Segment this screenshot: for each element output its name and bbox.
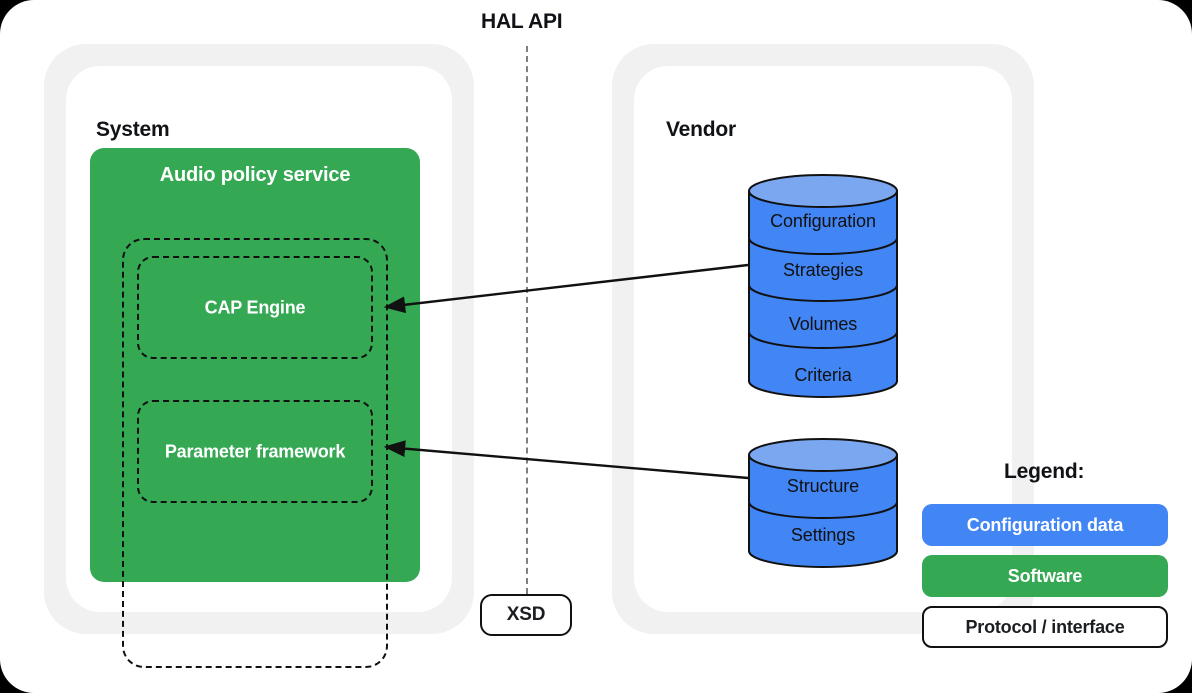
legend-item-configuration-data: Configuration data bbox=[922, 504, 1168, 546]
legend-item-label: Configuration data bbox=[967, 515, 1123, 536]
system-group-label: System bbox=[96, 118, 170, 142]
legend-item-label: Protocol / interface bbox=[965, 617, 1124, 638]
parameter-framework-module: Parameter framework bbox=[137, 400, 373, 503]
cylinder-shape bbox=[748, 174, 898, 398]
cap-engine-module: CAP Engine bbox=[137, 256, 373, 359]
audio-policy-service-block: Audio policy service CAP Engine Paramete… bbox=[90, 148, 420, 582]
cylinder-shape bbox=[748, 438, 898, 568]
legend-item-software: Software bbox=[922, 555, 1168, 597]
audio-policy-configuration-store: Configuration Strategies Volumes Criteri… bbox=[748, 174, 898, 398]
xsd-node: XSD bbox=[480, 594, 572, 636]
hal-api-divider bbox=[526, 46, 528, 594]
legend-item-label: Software bbox=[1008, 566, 1082, 587]
audio-policy-service-title: Audio policy service bbox=[90, 164, 420, 187]
legend-title: Legend: bbox=[1004, 460, 1084, 484]
diagram-canvas: System Audio policy service CAP Engine P… bbox=[0, 0, 1192, 693]
vendor-group-label: Vendor bbox=[666, 118, 736, 142]
parameter-framework-label: Parameter framework bbox=[139, 441, 371, 462]
parameter-framework-store: Structure Settings bbox=[748, 438, 898, 568]
hal-api-title: HAL API bbox=[481, 10, 562, 34]
legend-item-protocol-interface: Protocol / interface bbox=[922, 606, 1168, 648]
cap-engine-label: CAP Engine bbox=[139, 297, 371, 318]
